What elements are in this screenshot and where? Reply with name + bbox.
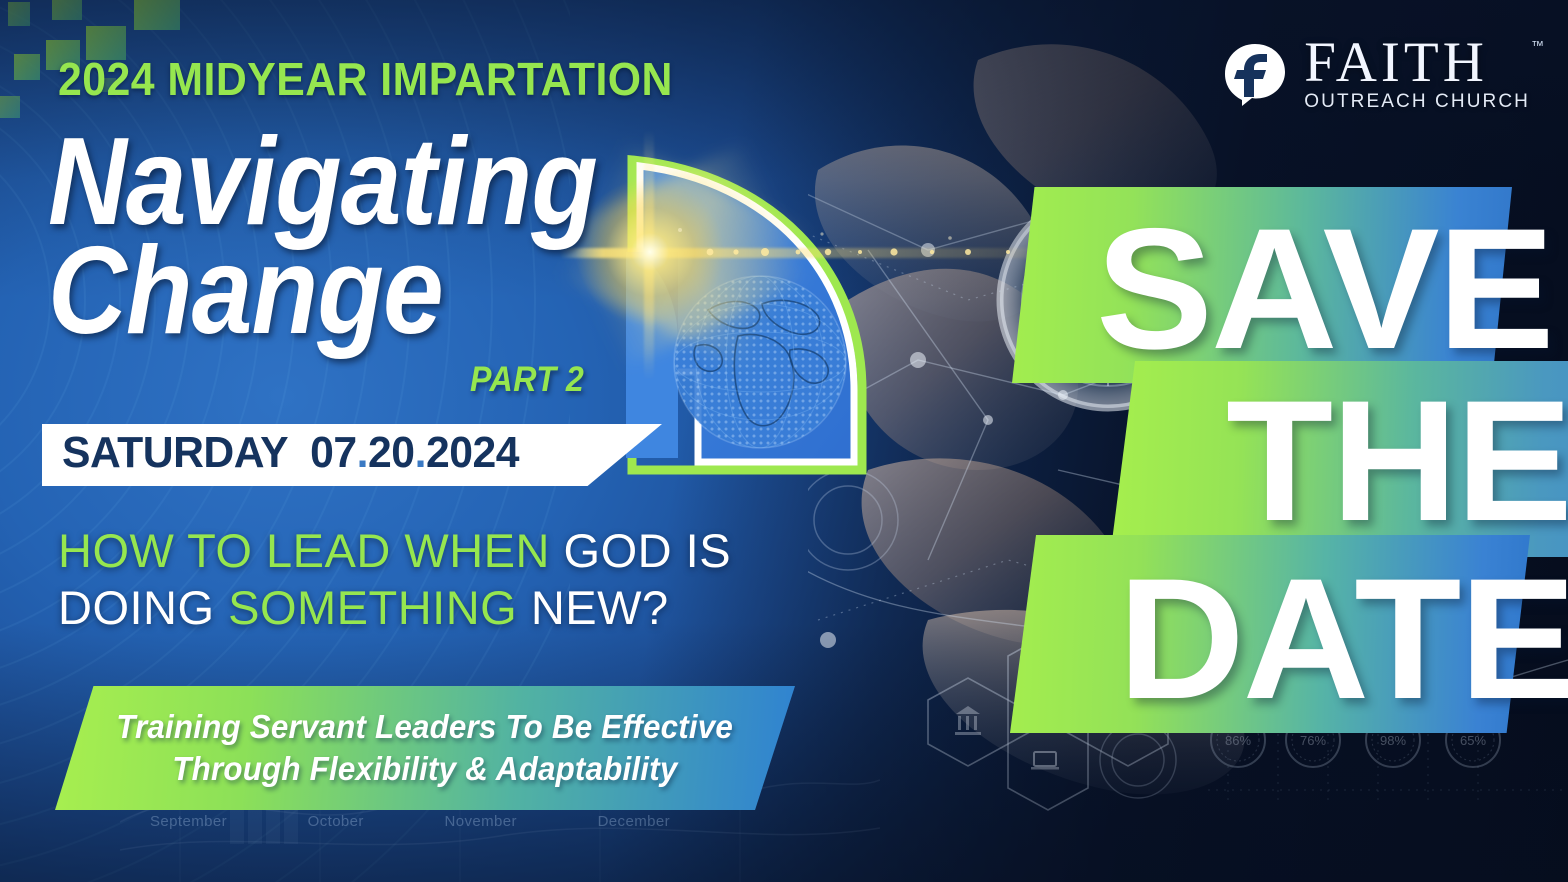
date-word: DATE (1118, 553, 1568, 725)
page-title: Navigating Change (48, 128, 672, 346)
question-green-1: HOW TO LEAD WHEN (58, 524, 550, 577)
logo-subtitle: OUTREACH CHURCH (1304, 91, 1530, 113)
date-text: SATURDAY 07.20.2024 (62, 428, 519, 478)
part-label: PART 2 (470, 360, 584, 400)
date-weekday: SATURDAY (62, 428, 287, 477)
ghost-month-label: October (308, 813, 364, 830)
promo-poster: 86% 76% 98% 65% (0, 0, 1568, 882)
question-line-2: DOING SOMETHING NEW? (58, 579, 731, 636)
question-white-2a: DOING (58, 581, 215, 634)
ghost-month-label: September (150, 813, 227, 830)
question-white-2b: NEW? (531, 581, 669, 634)
logo-name: FAITH (1304, 36, 1530, 90)
ghost-month-label: December (598, 813, 670, 830)
tagline-line-2: Through Flexibility & Adaptability (172, 748, 677, 790)
faith-outreach-church-logo: FAITH OUTREACH CHURCH ™ (1222, 36, 1530, 113)
tagline-text: Training Servant Leaders To Be Effective… (55, 686, 795, 810)
ghost-chart-month-labels: September October November December (150, 813, 670, 830)
date-month: 07 (310, 428, 357, 477)
logo-wordmark: FAITH OUTREACH CHURCH ™ (1304, 36, 1530, 113)
save-the-date-block: SAVE THE DATE (1000, 175, 1568, 735)
question-text: HOW TO LEAD WHEN GOD IS DOING SOMETHING … (58, 522, 731, 637)
question-white-1: GOD IS (564, 524, 732, 577)
question-line-1: HOW TO LEAD WHEN GOD IS (58, 522, 731, 579)
date-year: 2024 (426, 428, 519, 477)
ghost-month-label: November (445, 813, 517, 830)
date-day: 20 (368, 428, 415, 477)
save-word: SAVE (1096, 203, 1553, 375)
the-word: THE (1226, 375, 1568, 547)
question-green-2: SOMETHING (228, 581, 517, 634)
kicker-text: 2024 MIDYEAR IMPARTATION (58, 52, 673, 106)
title-line-1: Navigating (48, 128, 597, 237)
trademark-symbol: ™ (1531, 38, 1544, 53)
title-line-2: Change (48, 237, 597, 346)
faith-flame-icon (1222, 42, 1288, 108)
tagline-line-1: Training Servant Leaders To Be Effective (117, 706, 734, 748)
